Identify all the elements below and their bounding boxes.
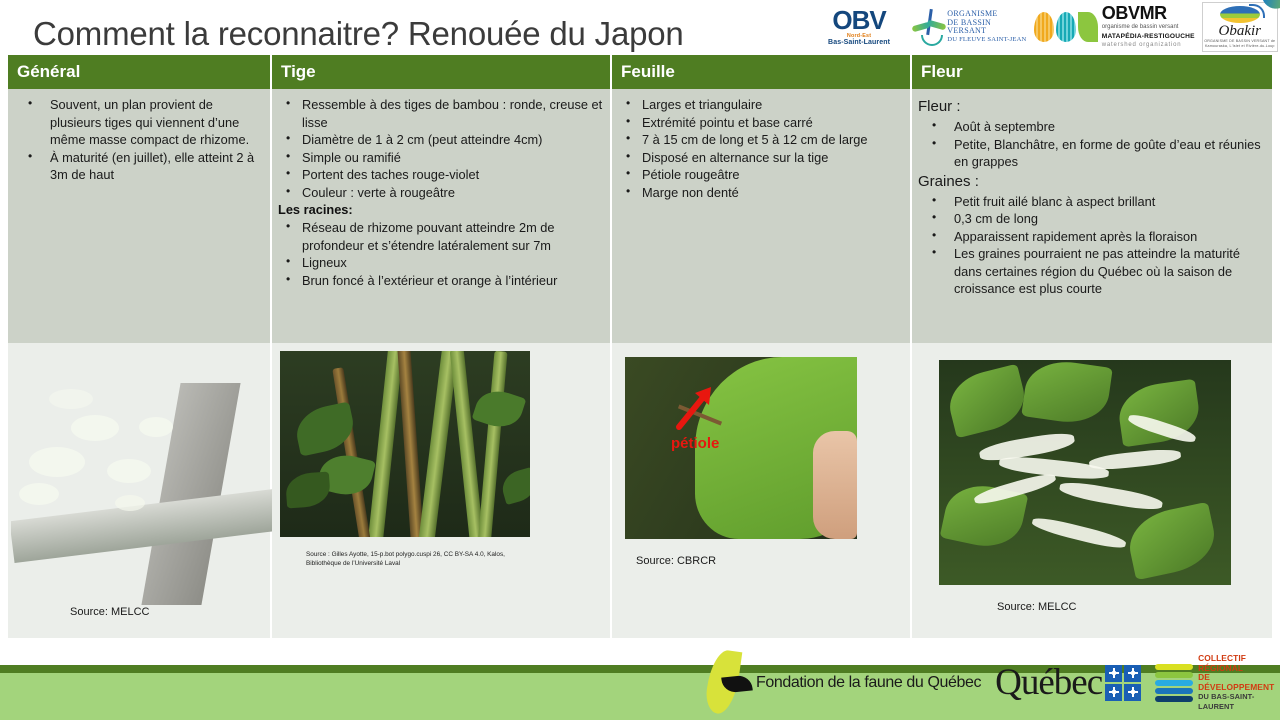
photo-caption: Source : Gilles Ayotte, 15-p.bot polygo.… xyxy=(306,551,506,568)
obv-nord-est-bas-saint-laurent-logo: OBV Nord-Est Bas-Saint-Laurent xyxy=(812,2,906,52)
obvmr-logo: OBVMR organisme de bassin versant MATAPÉ… xyxy=(1034,2,1196,52)
crd-line3: DU BAS-SAINT-LAURENT xyxy=(1198,692,1280,711)
obvsj-line2: DE BASSIN VERSANT xyxy=(947,19,1027,36)
list-item: Simple ou ramifié xyxy=(278,149,604,167)
list-item: 0,3 cm de long xyxy=(918,210,1266,228)
obakir-subtitle: ORGANISME DE BASSIN VERSANT de Kamourask… xyxy=(1203,39,1278,48)
graines-heading: Graines : xyxy=(918,171,1266,192)
list-item: Diamètre de 1 à 2 cm (peut atteindre 4cm… xyxy=(278,131,604,149)
table-image-row: Source: MELCC Source : Gilles A xyxy=(8,343,1272,638)
fleur-bullet-list: Août à septembre Petite, Blanchâtre, en … xyxy=(918,118,1266,171)
three-droplets-icon xyxy=(1034,12,1098,42)
leaf-bird-icon xyxy=(700,650,752,716)
list-item: Marge non denté xyxy=(618,184,904,202)
photo-leaf-petiole: pétiole xyxy=(625,357,857,539)
photo-caption: Source: CBRCR xyxy=(636,555,716,567)
cell-fleur: Fleur : Août à septembre Petite, Blanchâ… xyxy=(912,89,1272,343)
obvmr-sub3: watershed organization xyxy=(1102,41,1195,50)
tige-subheading: Les racines: xyxy=(278,201,604,219)
obvmr-wordmark: OBVMR xyxy=(1102,4,1195,23)
fleur-de-lys-flag-icon xyxy=(1105,665,1141,701)
list-item: Souvent, un plan provient de plusieurs t… xyxy=(14,96,264,149)
identification-table: Général Tige Feuille Fleur Souvent, un p… xyxy=(8,55,1272,638)
table-header-general: Général xyxy=(8,55,272,89)
cell-tige: Ressemble à des tiges de bambou : ronde,… xyxy=(272,89,612,343)
list-item: Ressemble à des tiges de bambou : ronde,… xyxy=(278,96,604,131)
partner-logo-strip: OBV Nord-Est Bas-Saint-Laurent ORGANISME… xyxy=(812,2,1278,52)
list-item: Extrémité pointu et base carré xyxy=(618,114,904,132)
table-header-fleur: Fleur xyxy=(912,55,1272,89)
arrow-icon xyxy=(673,385,715,431)
general-bullet-list: Souvent, un plan provient de plusieurs t… xyxy=(14,96,264,184)
slide-root: Comment la reconnaitre? Renouée du Japon… xyxy=(0,0,1280,720)
list-item: Larges et triangulaire xyxy=(618,96,904,114)
list-item: 7 à 15 cm de long et 5 à 12 cm de large xyxy=(618,131,904,149)
fleur-heading: Fleur : xyxy=(918,96,1266,117)
page-title: Comment la reconnaitre? Renouée du Japon xyxy=(33,14,793,54)
obakir-logo: Obakir ORGANISME DE BASSIN VERSANT de Ka… xyxy=(1202,2,1279,52)
graines-bullet-list: Petit fruit ailé blanc à aspect brillant… xyxy=(918,193,1266,298)
obvmr-sub1: organisme de bassin versant xyxy=(1102,23,1195,32)
table-header-row: Général Tige Feuille Fleur xyxy=(8,55,1272,89)
tige-bullet-list: Ressemble à des tiges de bambou : ronde,… xyxy=(278,96,604,201)
cell-general: Souvent, un plan provient de plusieurs t… xyxy=(8,89,272,343)
crd-line2: DE DÉVELOPPEMENT xyxy=(1198,673,1280,692)
table-header-feuille: Feuille xyxy=(612,55,912,89)
petiole-annotation: pétiole xyxy=(671,435,719,452)
quebec-wordmark: Québec xyxy=(995,664,1102,701)
photo-caption: Source: MELCC xyxy=(70,606,149,618)
photo-roadside-knotweed xyxy=(11,355,277,605)
fondation-faune-quebec-logo: Fondation de la faune du Québec xyxy=(700,650,981,716)
photo-flowering-knotweed xyxy=(939,360,1231,585)
list-item: Ligneux xyxy=(278,254,604,272)
crd-line1: COLLECTIF RÉGIONAL xyxy=(1198,654,1280,673)
obv-logo-sub2: Bas-Saint-Laurent xyxy=(828,39,890,46)
list-item: Disposé en alternance sur la tige xyxy=(618,149,904,167)
cell-photo-tige: Source : Gilles Ayotte, 15-p.bot polygo.… xyxy=(272,343,612,638)
list-item: Portent des taches rouge-violet xyxy=(278,166,604,184)
obakir-wordmark: Obakir xyxy=(1219,24,1262,39)
obvmr-sub2: MATAPÉDIA-RESTIGOUCHE xyxy=(1102,32,1195,41)
cell-photo-general: Source: MELCC xyxy=(8,343,272,638)
photo-bamboo-like-stems xyxy=(280,351,530,537)
collectif-regional-developpement-logo: COLLECTIF RÉGIONAL DE DÉVELOPPEMENT DU B… xyxy=(1155,654,1280,711)
footer-logo-strip: Fondation de la faune du Québec Québec C… xyxy=(700,645,1280,720)
cell-photo-fleur: Source: MELCC xyxy=(912,343,1272,638)
stacked-waves-icon xyxy=(1155,663,1193,703)
cell-photo-feuille: pétiole Source: CBRCR xyxy=(612,343,912,638)
tige-root-bullet-list: Réseau de rhizome pouvant atteindre 2m d… xyxy=(278,219,604,289)
list-item: À maturité (en juillet), elle atteint 2 … xyxy=(14,149,264,184)
obv-logo-letters: OBV xyxy=(832,8,885,32)
quebec-government-logo: Québec xyxy=(995,664,1141,701)
list-item: Brun foncé à l’extérieur et orange à l’i… xyxy=(278,272,604,290)
list-item: Petit fruit ailé blanc à aspect brillant xyxy=(918,193,1266,211)
list-item: Couleur : verte à rougeâtre xyxy=(278,184,604,202)
landscape-wave-icon xyxy=(1220,6,1260,23)
feuille-bullet-list: Larges et triangulaire Extrémité pointu … xyxy=(618,96,904,201)
cell-feuille: Larges et triangulaire Extrémité pointu … xyxy=(612,89,912,343)
table-header-tige: Tige xyxy=(272,55,612,89)
obvsj-line3: DU FLEUVE SAINT-JEAN xyxy=(947,36,1027,45)
water-plant-icon xyxy=(912,7,944,47)
list-item: Réseau de rhizome pouvant atteindre 2m d… xyxy=(278,219,604,254)
photo-caption: Source: MELCC xyxy=(997,601,1076,613)
fondation-faune-quebec-text: Fondation de la faune du Québec xyxy=(756,674,981,692)
organisme-bassin-versant-fleuve-saint-jean-logo: ORGANISME DE BASSIN VERSANT DU FLEUVE SA… xyxy=(912,2,1028,52)
list-item: Apparaissent rapidement après la florais… xyxy=(918,228,1266,246)
list-item: Août à septembre xyxy=(918,118,1266,136)
list-item: Les graines pourraient ne pas atteindre … xyxy=(918,245,1266,298)
list-item: Petite, Blanchâtre, en forme de goûte d’… xyxy=(918,136,1266,171)
list-item: Pétiole rougeâtre xyxy=(618,166,904,184)
table-text-row: Souvent, un plan provient de plusieurs t… xyxy=(8,89,1272,343)
